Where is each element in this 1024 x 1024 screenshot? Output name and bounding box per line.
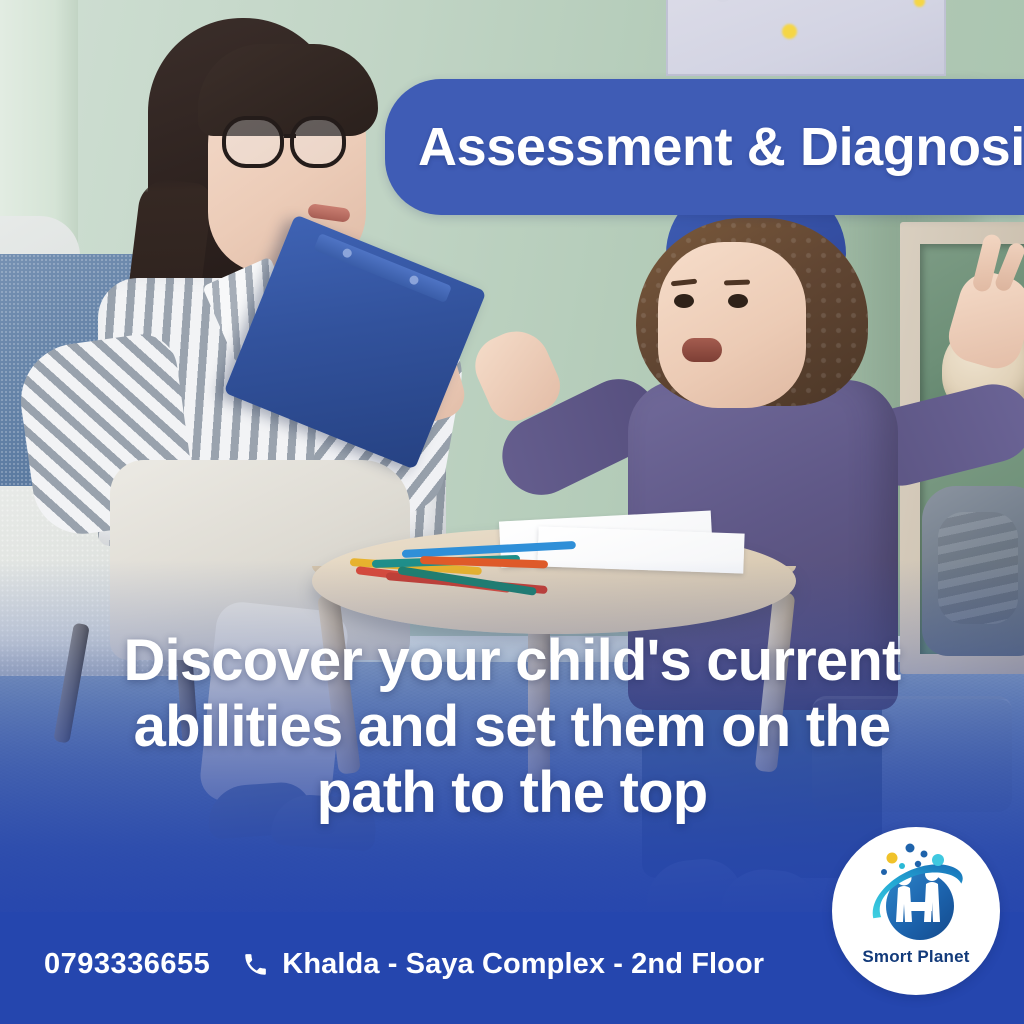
title-banner: Assessment & Diagnosis — [385, 79, 1024, 215]
star-icon — [782, 24, 797, 39]
headline-line-1: Discover your child's current — [0, 628, 1024, 694]
headline-line-3: path to the top — [0, 760, 1024, 826]
child-eye — [728, 294, 748, 308]
social-media-poster: Assessment & Diagnosis Discover your chi… — [0, 0, 1024, 1024]
brand-name: Smort Planet — [862, 947, 969, 967]
child-mouth — [682, 338, 722, 362]
child-face — [658, 242, 806, 408]
phone-icon — [242, 951, 269, 978]
contact-bar: 0793336655 Khalda - Saya Complex - 2nd F… — [44, 948, 764, 981]
nursery-wall-poster — [666, 0, 946, 76]
headline-line-2: abilities and set them on the — [0, 694, 1024, 760]
address-text[interactable]: Khalda - Saya Complex - 2nd Floor — [282, 948, 764, 981]
therapist-fringe — [198, 44, 378, 136]
phone-number[interactable]: 0793336655 — [44, 948, 210, 981]
eyeglasses-lens — [222, 116, 284, 168]
planet-logo-icon — [858, 838, 974, 946]
eyeglasses-bridge — [284, 134, 296, 138]
eyeglasses-lens — [290, 116, 346, 168]
star-icon — [914, 0, 925, 7]
banner-title: Assessment & Diagnosis — [385, 116, 1024, 178]
child-eyebrow — [724, 280, 750, 286]
brand-logo[interactable]: Smort Planet — [832, 827, 1000, 995]
child-eye — [674, 294, 694, 308]
headline-block: Discover your child's current abilities … — [0, 628, 1024, 825]
